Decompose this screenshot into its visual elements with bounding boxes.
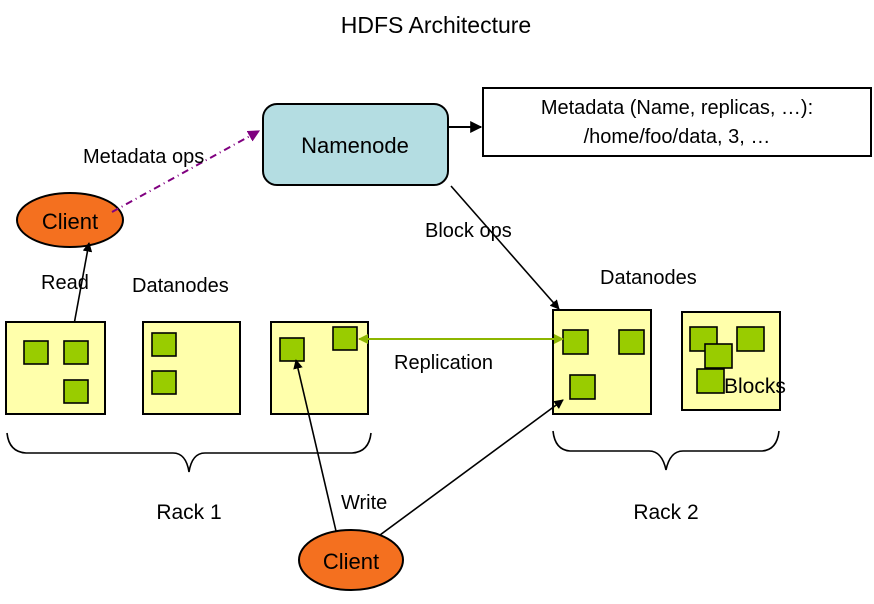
namenode-box[interactable]: Namenode <box>263 104 448 185</box>
datanode-5[interactable]: Blocks <box>682 312 786 410</box>
datanode-3[interactable] <box>271 322 368 414</box>
page-title: HDFS Architecture <box>341 12 531 38</box>
block <box>64 380 88 403</box>
datanode-2[interactable] <box>143 322 240 414</box>
client-top[interactable]: Client <box>17 193 123 247</box>
block <box>563 330 588 354</box>
metadata-line-2: /home/foo/data, 3, … <box>584 126 771 148</box>
block <box>705 344 732 368</box>
block <box>280 338 304 361</box>
namenode-label: Namenode <box>301 133 409 158</box>
block <box>152 333 176 356</box>
metadata-box: Metadata (Name, replicas, …): /home/foo/… <box>483 88 871 156</box>
replication-label: Replication <box>394 352 493 374</box>
block <box>333 327 357 350</box>
rack-1-label: Rack 1 <box>156 501 221 524</box>
write-label: Write <box>341 492 387 514</box>
rack-2-label: Rack 2 <box>633 501 698 524</box>
block-ops-label: Block ops <box>425 220 512 242</box>
datanode-1[interactable] <box>6 322 105 414</box>
block <box>697 369 724 393</box>
block <box>64 341 88 364</box>
block <box>24 341 48 364</box>
block <box>152 371 176 394</box>
metadata-ops-label: Metadata ops <box>83 146 204 168</box>
block <box>737 327 764 351</box>
block <box>570 375 595 399</box>
client-bottom-label: Client <box>323 549 379 574</box>
metadata-line-1: Metadata (Name, replicas, …): <box>541 97 813 119</box>
hdfs-architecture-diagram: HDFS Architecture Metadata (Name, replic… <box>0 0 874 604</box>
client-top-label: Client <box>42 209 98 234</box>
blocks-label: Blocks <box>724 375 786 398</box>
datanodes-left-label: Datanodes <box>132 275 229 297</box>
datanodes-right-label: Datanodes <box>600 267 697 289</box>
datanode-4[interactable] <box>553 310 651 414</box>
client-bottom[interactable]: Client <box>299 530 403 590</box>
block <box>619 330 644 354</box>
read-label: Read <box>41 272 89 294</box>
